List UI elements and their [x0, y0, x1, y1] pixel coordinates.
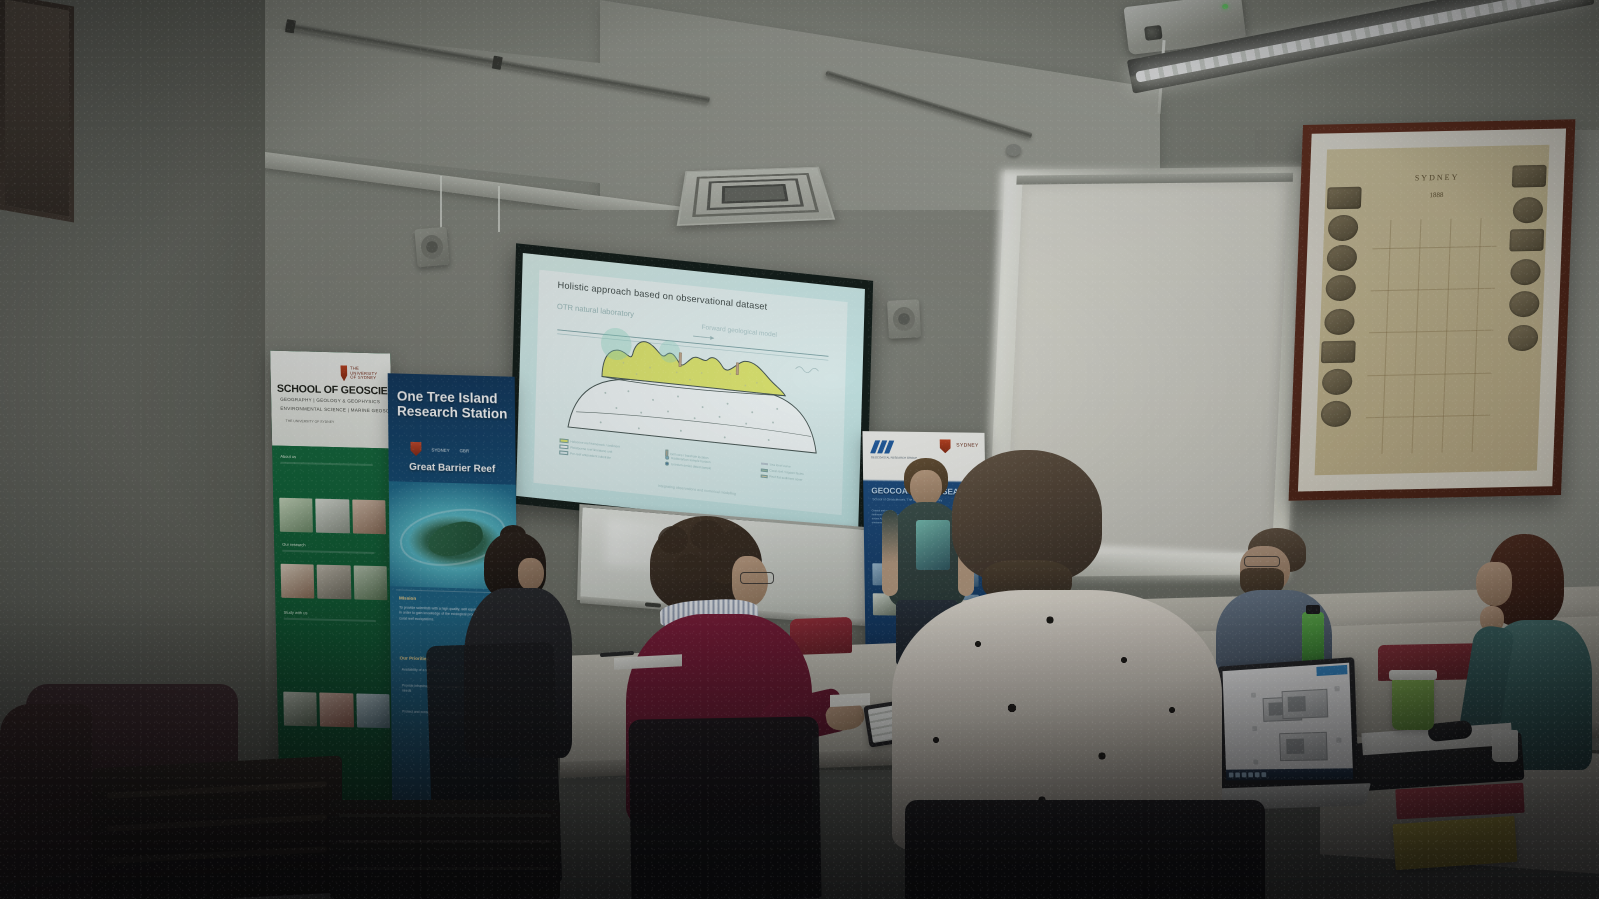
laptop-lid: [1218, 657, 1359, 790]
presenter-arm-left: [882, 510, 898, 596]
laptop[interactable]: [1213, 660, 1360, 811]
presenter-face: [910, 470, 942, 506]
framed-map: SYDNEY 1888: [1289, 119, 1576, 500]
small-cup[interactable]: [1492, 730, 1518, 762]
ceiling-wire: [440, 176, 442, 230]
cup-lid: [1389, 670, 1437, 680]
banner-geo-photo-row-3: [283, 692, 390, 729]
wall-speaker-right-icon: [887, 299, 921, 339]
legend-swatch: [760, 474, 767, 478]
banner-geo-section-1: About us: [280, 454, 296, 459]
air-vent-icon: [677, 167, 835, 226]
smoke-detector-icon: [1006, 144, 1021, 156]
map-vignette: [1320, 401, 1351, 428]
paper-sheet[interactable]: [830, 693, 870, 707]
university-crest-icon: [340, 365, 347, 381]
taskbar-icon[interactable]: [1235, 772, 1240, 777]
university-logo-text: THE UNIVERSITY OF SYDNEY: [350, 366, 383, 381]
map-vignette: [1321, 341, 1356, 364]
page-marker: [1251, 693, 1256, 698]
foreground-chair[interactable]: [905, 800, 1265, 899]
image-thumbnail[interactable]: [1279, 732, 1328, 761]
banner-oti-logos: SYDNEY GBR: [410, 440, 505, 461]
wall-speaker-left-icon: [414, 227, 449, 268]
projector-power-led-icon: [1222, 4, 1229, 10]
legend-label: Sea level curve: [770, 463, 791, 469]
taskbar-icon[interactable]: [1248, 772, 1253, 777]
map-paper: SYDNEY 1888: [1315, 145, 1550, 475]
glasses-icon: [1244, 556, 1280, 567]
legend-swatch: [665, 462, 669, 466]
legend-swatch: [665, 456, 669, 460]
attendee-face: [1476, 562, 1512, 606]
university-logo: THE UNIVERSITY OF SYDNEY: [340, 362, 382, 385]
glasses-icon: [740, 572, 774, 584]
projector-lens-icon: [1144, 25, 1163, 41]
browser-addressbar[interactable]: [1316, 665, 1347, 676]
wire-basket-trolley[interactable]: [330, 800, 560, 899]
banner-geo-section-2: Our research: [282, 542, 305, 548]
banner-photo: [283, 692, 317, 727]
left-wall-frame: [0, 0, 74, 223]
projection-screen: Holistic approach based on observational…: [509, 243, 873, 540]
map-vignette: [1327, 187, 1362, 210]
map-street-grid: [1364, 217, 1498, 454]
screen-surface: Holistic approach based on observational…: [516, 253, 865, 532]
person-attendee-polkadot: [940, 450, 1230, 850]
windows-taskbar[interactable]: [1226, 768, 1353, 780]
banner-oti-title-line2: Research Station: [397, 403, 507, 421]
map-vignette: [1322, 369, 1353, 396]
map-vignette: [1510, 259, 1541, 286]
image-thumbnail[interactable]: [1282, 689, 1329, 719]
banner-oti-partner-text: GBR: [460, 448, 470, 453]
map-vignette: [1326, 245, 1357, 272]
page-marker: [1336, 737, 1341, 742]
attendee-face: [518, 558, 544, 590]
banner-geo-header: THE UNIVERSITY OF SYDNEY SCHOOL OF GEOSC…: [270, 351, 392, 449]
geocoastal-university-text: SYDNEY: [956, 442, 978, 448]
sofa-arm: [0, 704, 92, 899]
banner-geo-subtitle-1: GEOGRAPHY | GEOLOGY & GEOPHYSICS: [280, 397, 385, 405]
page-marker: [1253, 760, 1258, 765]
banner-geo-tagline: THE UNIVERSITY OF SYDNEY: [286, 419, 386, 425]
banner-photo: [317, 565, 351, 600]
map-vignette: [1509, 229, 1544, 252]
banner-photo: [352, 499, 386, 534]
legend-swatch: [559, 439, 568, 444]
legend-swatch: [761, 463, 768, 466]
office-chair-mesh-2[interactable]: [628, 716, 821, 899]
banner-photo: [320, 693, 354, 728]
presentation-slide: Holistic approach based on observational…: [534, 269, 848, 515]
map-vignette: [1509, 291, 1540, 318]
map-vignette: [1507, 325, 1538, 352]
laptop-screen[interactable]: [1223, 663, 1354, 781]
legend-swatch: [559, 451, 568, 456]
banner-photo: [316, 499, 350, 534]
banner-photo: [281, 564, 315, 599]
banner-oti-section-1: Mission: [399, 595, 416, 600]
banner-geo-title: SCHOOL OF GEOSCIENCES: [277, 383, 385, 398]
banner-school-of-geosciences: THE UNIVERSITY OF SYDNEY SCHOOL OF GEOSC…: [270, 351, 400, 814]
university-crest-icon: [410, 442, 421, 456]
legend-label: Reef flat sediment cover: [769, 475, 802, 482]
map-vignette: [1325, 275, 1356, 302]
geocoastal-logo-icon: [873, 440, 892, 453]
taskbar-icon[interactable]: [1255, 772, 1260, 777]
banner-oti-logo-text: SYDNEY: [431, 447, 449, 453]
coffee-cup[interactable]: [1392, 676, 1434, 730]
banner-photo: [279, 498, 313, 533]
map-vignette: [1512, 197, 1543, 224]
yellow-notebook[interactable]: [1393, 816, 1518, 870]
bottle-cap: [1306, 605, 1320, 614]
taskbar-icon[interactable]: [1261, 772, 1266, 777]
banner-photo: [353, 565, 387, 600]
banner-photo: [356, 693, 390, 728]
map-vignette: [1324, 309, 1355, 336]
banner-geo-section-3: Study with us: [284, 610, 308, 616]
taskbar-icon[interactable]: [1242, 772, 1247, 777]
seminar-room-photo: SYDNEY 1888: [0, 0, 1599, 899]
ceiling-wire-2: [498, 186, 500, 232]
banner-oti-title: One Tree Island Research Station: [397, 389, 512, 421]
map-vignette: [1328, 215, 1359, 242]
page-marker: [1252, 726, 1257, 731]
map-mat: SYDNEY 1888: [1298, 128, 1566, 491]
banner-geo-photo-row-2: [281, 564, 388, 601]
banner-oti-section-2: Our Priorities: [400, 655, 429, 661]
banner-geo-subtitle-2: ENVIRONMENTAL SCIENCE | MARINE GEOSCIENC…: [280, 406, 385, 414]
legend-swatch: [559, 445, 568, 450]
page-marker: [1334, 686, 1339, 691]
banner-oti-subtitle: Great Barrier Reef: [389, 461, 516, 476]
banner-geo-photo-row: [279, 498, 386, 535]
map-vignette: [1512, 165, 1547, 188]
stacked-chairs[interactable]: [92, 755, 342, 899]
legend-swatch: [760, 468, 767, 472]
